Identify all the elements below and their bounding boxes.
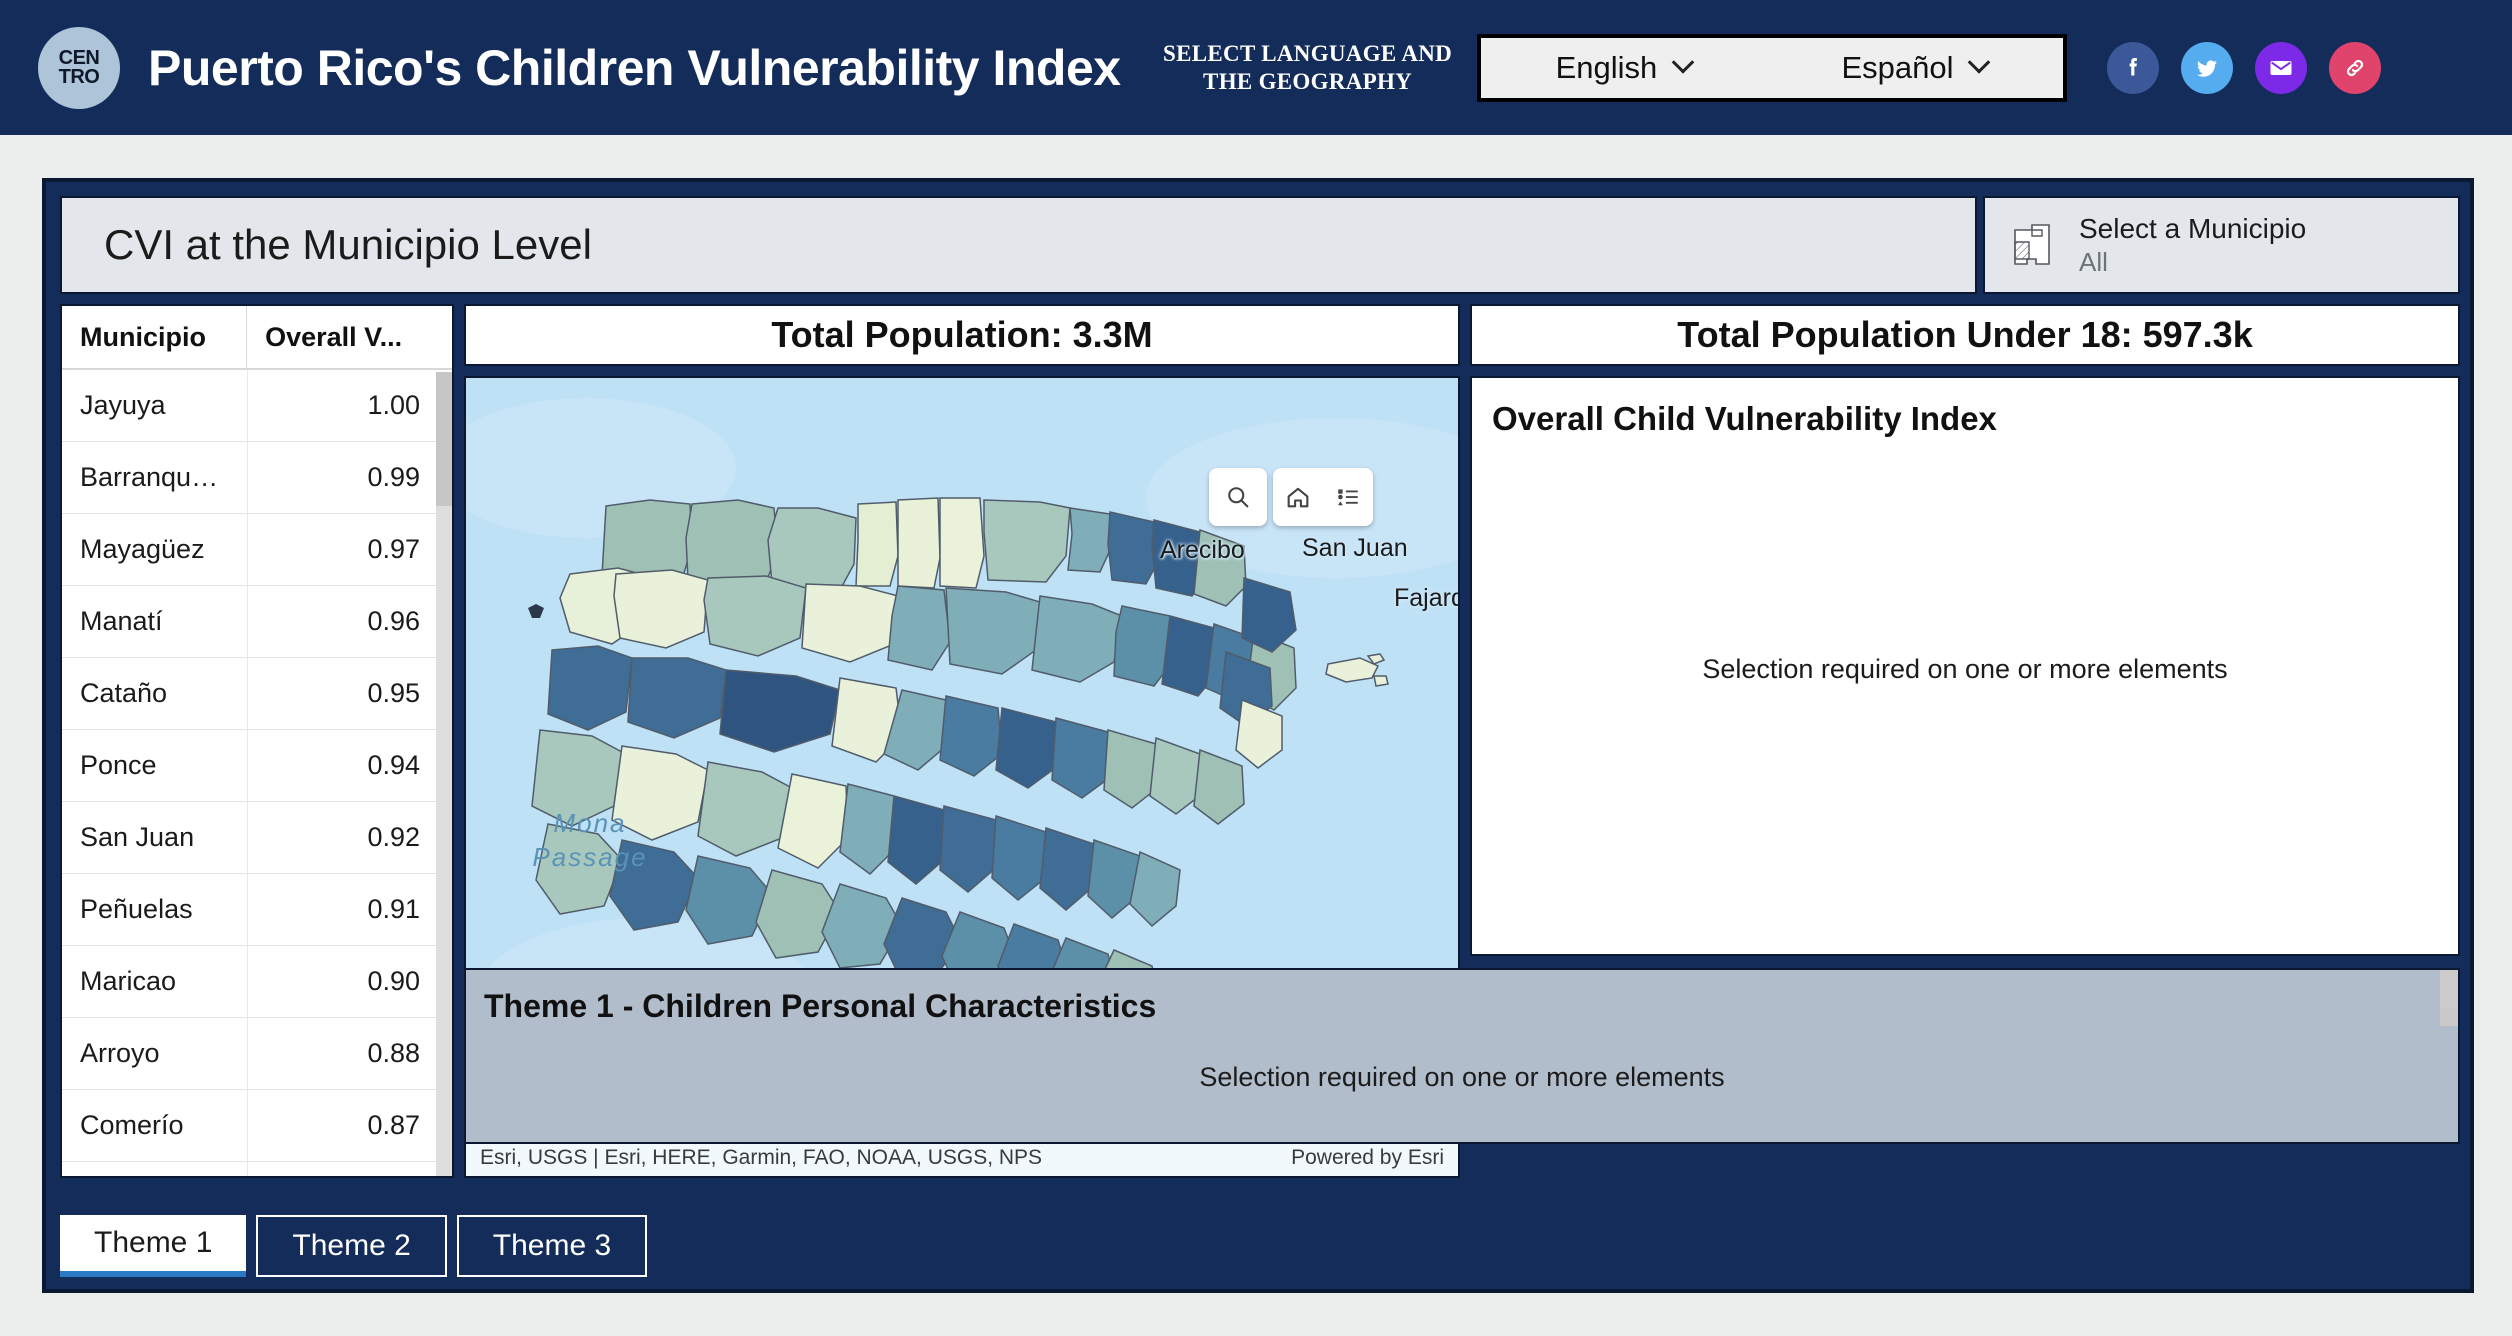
dashboard-frame: CVI at the Municipio Level Select a Muni… xyxy=(42,178,2474,1293)
cell-municipio: Manatí xyxy=(62,586,248,657)
map-legend-button[interactable] xyxy=(1323,468,1373,526)
municipio-selector-label: Select a Municipio xyxy=(2079,212,2306,246)
tab-theme-3[interactable]: Theme 3 xyxy=(457,1215,647,1277)
overall-index-empty-message: Selection required on one or more elemen… xyxy=(1472,654,2458,685)
logo-line-1: CEN xyxy=(59,49,100,68)
cell-overall-value: 0.91 xyxy=(248,874,440,945)
table-row[interactable]: Arroyo0.88 xyxy=(62,1018,452,1090)
cell-overall-value: 0.99 xyxy=(248,442,440,513)
table-row[interactable]: Maricao0.90 xyxy=(62,946,452,1018)
theme-panel: Theme 1 - Children Personal Characterist… xyxy=(464,968,2460,1144)
facebook-icon xyxy=(2118,53,2148,83)
language-label-espanol: Español xyxy=(1841,50,1953,86)
cell-overall-value: 1.00 xyxy=(248,370,440,441)
language-option-espanol[interactable]: Español xyxy=(1841,50,1987,86)
language-selector[interactable]: English Español xyxy=(1477,34,2067,102)
cell-overall-value: 0.90 xyxy=(248,946,440,1017)
municipio-selector[interactable]: Select a Municipio All xyxy=(1983,196,2460,294)
table-row[interactable]: Ponce0.94 xyxy=(62,730,452,802)
attribution-powered-by: Powered by Esri xyxy=(1291,1146,1444,1170)
app-header: CEN TRO Puerto Rico's Children Vulnerabi… xyxy=(0,0,2512,135)
cell-overall-value: 0.96 xyxy=(248,586,440,657)
map-search-button[interactable] xyxy=(1209,468,1267,526)
home-icon xyxy=(1284,483,1312,511)
table-row[interactable]: Mayagüez0.97 xyxy=(62,514,452,586)
theme-panel-scrollbar-thumb[interactable] xyxy=(2440,970,2458,1008)
cell-overall-value: 0.86 xyxy=(248,1162,440,1178)
total-population-banner: Total Population: 3.3M xyxy=(464,304,1460,366)
cell-municipio: Comerío xyxy=(62,1090,248,1161)
table-row[interactable]: Comerío0.87 xyxy=(62,1090,452,1162)
table-row[interactable]: Jayuya1.00 xyxy=(62,370,452,442)
municipio-selector-value: All xyxy=(2079,246,2306,278)
table-row[interactable]: Peñuelas0.91 xyxy=(62,874,452,946)
language-caption: SELECT LANGUAGE AND THE GEOGRAPHY xyxy=(1163,40,1453,96)
map-home-button[interactable] xyxy=(1273,468,1323,526)
tab-theme-2[interactable]: Theme 2 xyxy=(256,1215,446,1277)
column-header-municipio[interactable]: Municipio xyxy=(62,306,247,368)
table-header-row: Municipio Overall V... xyxy=(62,306,452,370)
dashboard-title: CVI at the Municipio Level xyxy=(60,196,1977,294)
chevron-down-icon xyxy=(1968,51,1991,74)
municipio-table[interactable]: Municipio Overall V... Jayuya1.00Barranq… xyxy=(60,304,454,1178)
population-under-18-banner: Total Population Under 18: 597.3k xyxy=(1470,304,2460,366)
centro-logo: CEN TRO xyxy=(38,27,120,109)
cell-municipio: San Juan xyxy=(62,802,248,873)
table-row[interactable]: Manatí0.96 xyxy=(62,586,452,658)
cell-municipio: Ponce xyxy=(62,730,248,801)
facebook-share-button[interactable] xyxy=(2107,42,2159,94)
search-icon xyxy=(1224,483,1252,511)
table-body: Jayuya1.00Barranqu…0.99Mayagüez0.97Manat… xyxy=(62,370,452,1178)
map-tools-group xyxy=(1273,468,1373,526)
cell-municipio: Mayagüez xyxy=(62,514,248,585)
theme-panel-empty-message: Selection required on one or more elemen… xyxy=(466,1062,2458,1093)
copy-link-button[interactable] xyxy=(2329,42,2381,94)
cell-overall-value: 0.97 xyxy=(248,514,440,585)
cell-municipio: Jayuya xyxy=(62,370,248,441)
language-option-english[interactable]: English xyxy=(1556,50,1692,86)
cell-municipio: Peñuelas xyxy=(62,874,248,945)
theme-panel-title: Theme 1 - Children Personal Characterist… xyxy=(484,988,1156,1025)
table-row[interactable]: Orocovis0.86 xyxy=(62,1162,452,1178)
theme-panel-scrollbar[interactable] xyxy=(2440,970,2458,1026)
table-row[interactable]: Barranqu…0.99 xyxy=(62,442,452,514)
social-links xyxy=(2107,42,2381,94)
overall-index-title: Overall Child Vulnerability Index xyxy=(1492,400,1997,438)
table-scrollbar-thumb[interactable] xyxy=(436,372,452,506)
cell-municipio: Maricao xyxy=(62,946,248,1017)
page-title: Puerto Rico's Children Vulnerability Ind… xyxy=(148,39,1121,97)
language-label-english: English xyxy=(1556,50,1658,86)
twitter-icon xyxy=(2192,53,2222,83)
email-icon xyxy=(2267,54,2295,82)
logo-line-2: TRO xyxy=(59,68,100,87)
theme-tab-strip: Theme 1Theme 2Theme 3 xyxy=(60,1215,647,1277)
attribution-sources: Esri, USGS | Esri, HERE, Garmin, FAO, NO… xyxy=(480,1146,1042,1170)
link-icon xyxy=(2341,54,2369,82)
cell-overall-value: 0.88 xyxy=(248,1018,440,1089)
cell-municipio: Barranqu… xyxy=(62,442,248,513)
map-attribution: Esri, USGS | Esri, HERE, Garmin, FAO, NO… xyxy=(466,1140,1458,1176)
cell-overall-value: 0.94 xyxy=(248,730,440,801)
legend-list-icon xyxy=(1335,484,1361,510)
email-share-button[interactable] xyxy=(2255,42,2307,94)
municipio-map-icon xyxy=(2011,220,2057,270)
table-scrollbar[interactable] xyxy=(436,372,452,1178)
cell-overall-value: 0.87 xyxy=(248,1090,440,1161)
chevron-down-icon xyxy=(1672,51,1695,74)
overall-index-panel: Overall Child Vulnerability Index Select… xyxy=(1470,376,2460,956)
cell-overall-value: 0.95 xyxy=(248,658,440,729)
column-header-overall-value[interactable]: Overall V... xyxy=(247,306,452,368)
tab-theme-1[interactable]: Theme 1 xyxy=(60,1215,246,1277)
cell-municipio: Cataño xyxy=(62,658,248,729)
cell-overall-value: 0.92 xyxy=(248,802,440,873)
cell-municipio: Arroyo xyxy=(62,1018,248,1089)
table-row[interactable]: San Juan0.92 xyxy=(62,802,452,874)
dashboard-header-strip: CVI at the Municipio Level Select a Muni… xyxy=(60,196,2460,294)
twitter-share-button[interactable] xyxy=(2181,42,2233,94)
table-row[interactable]: Cataño0.95 xyxy=(62,658,452,730)
cell-municipio: Orocovis xyxy=(62,1162,248,1178)
